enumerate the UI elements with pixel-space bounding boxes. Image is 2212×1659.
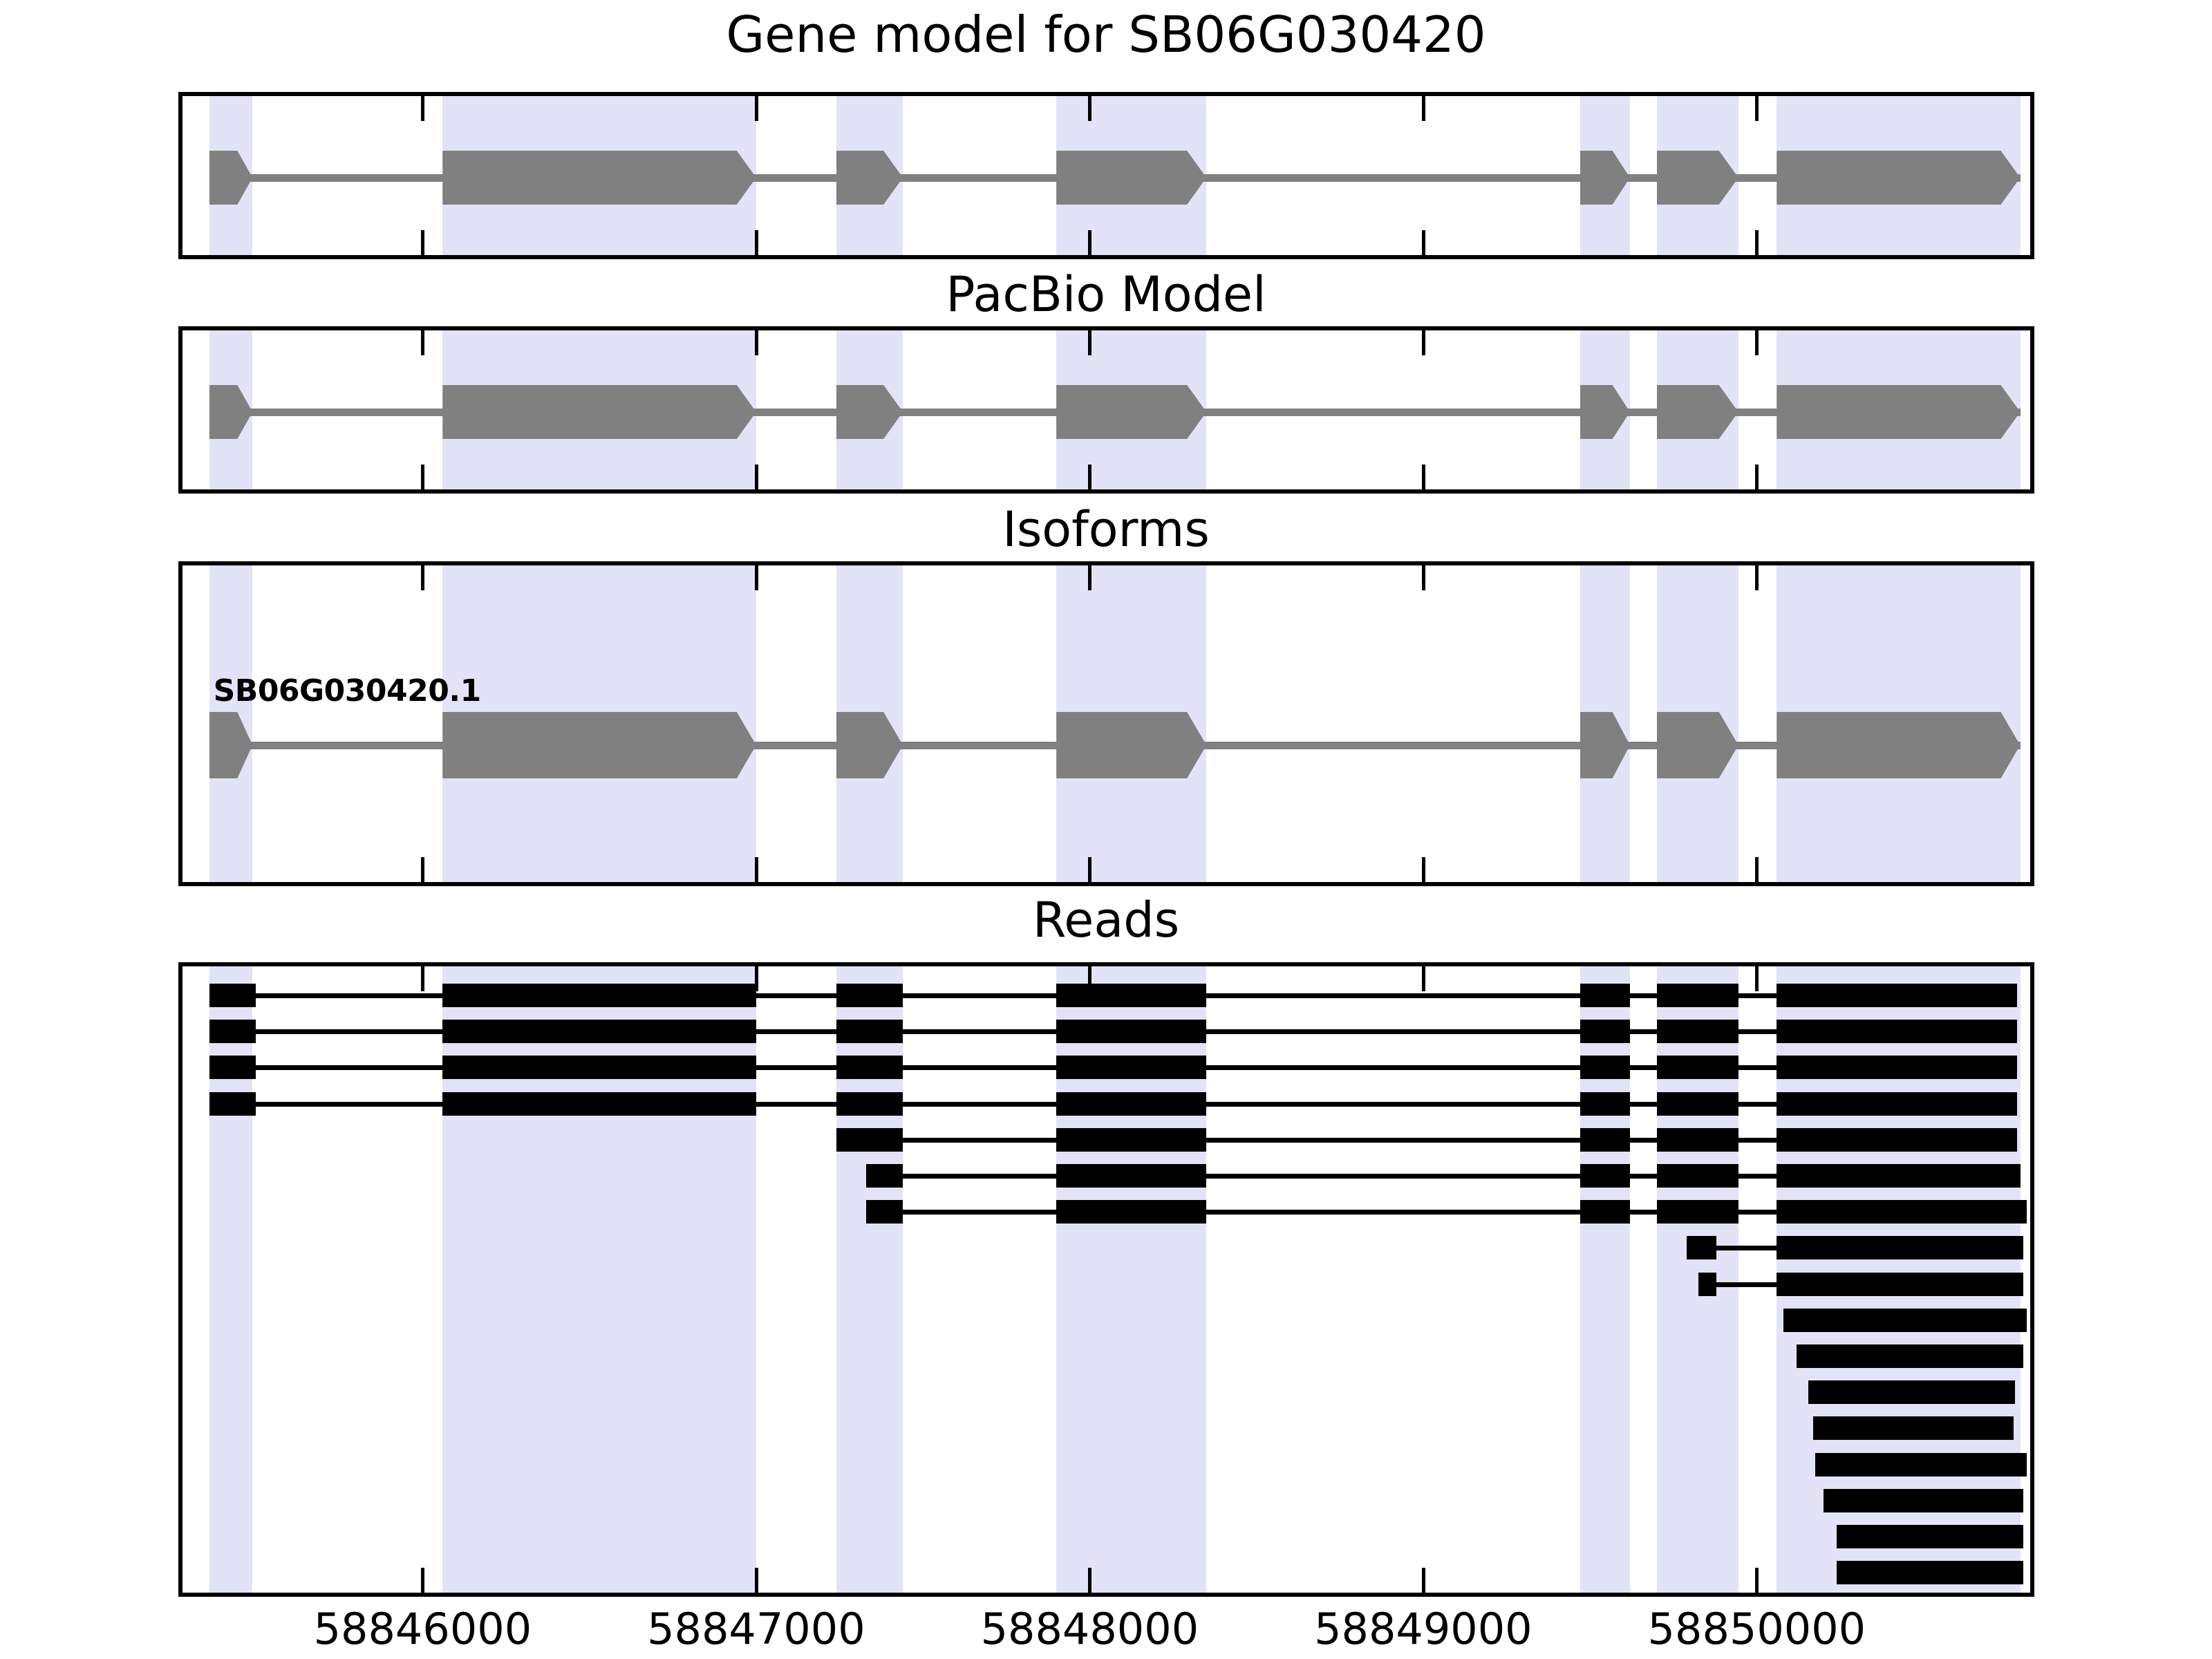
read-exon-block bbox=[1815, 1453, 2027, 1477]
exon-block bbox=[1056, 712, 1206, 778]
panel-title-reads: Reads bbox=[0, 892, 2212, 948]
x-tick-label: 58850000 bbox=[1584, 1604, 1929, 1654]
read-exon-block bbox=[1657, 1200, 1738, 1224]
exon-block bbox=[442, 151, 756, 205]
read-exon-block bbox=[1777, 1273, 2023, 1296]
x-tick bbox=[1755, 1568, 1759, 1593]
pacbio-model-axes bbox=[178, 326, 2034, 494]
x-tick bbox=[1088, 465, 1091, 489]
read-exon-block bbox=[1580, 1164, 1630, 1188]
exon-block bbox=[1777, 385, 2020, 439]
x-tick bbox=[1088, 330, 1091, 355]
read-exon-block bbox=[1657, 1056, 1738, 1079]
read-exon-block bbox=[1657, 1092, 1738, 1116]
x-tick bbox=[1422, 96, 1425, 121]
x-tick bbox=[755, 96, 758, 121]
x-tick bbox=[1422, 1568, 1425, 1593]
x-tick bbox=[421, 1568, 424, 1593]
x-tick bbox=[1422, 330, 1425, 355]
x-tick bbox=[1422, 565, 1425, 590]
read-exon-block bbox=[1056, 1200, 1206, 1224]
read-exon-block bbox=[1777, 984, 2016, 1007]
page-title: Gene model for SB06G030420 bbox=[0, 6, 2212, 64]
read-exon-block bbox=[1657, 1020, 1738, 1043]
x-tick bbox=[1755, 966, 1759, 991]
x-tick-label: 58847000 bbox=[583, 1604, 929, 1654]
read-exon-block bbox=[836, 984, 903, 1007]
exon-block bbox=[1777, 712, 2020, 778]
read-exon-block bbox=[1657, 984, 1738, 1007]
read-exon-block bbox=[209, 984, 256, 1007]
x-tick-label: 58849000 bbox=[1250, 1604, 1596, 1654]
read-exon-block bbox=[866, 1164, 903, 1188]
x-tick bbox=[1088, 1568, 1091, 1593]
x-tick bbox=[755, 230, 758, 255]
panel-title-isoforms: Isoforms bbox=[0, 501, 2212, 558]
exon-block bbox=[1777, 151, 2020, 205]
exon-block bbox=[442, 385, 756, 439]
read-exon-block bbox=[209, 1092, 256, 1116]
read-exon-block bbox=[1056, 984, 1206, 1007]
read-exon-block bbox=[836, 1092, 903, 1116]
x-tick bbox=[755, 565, 758, 590]
read-exon-block bbox=[442, 1056, 756, 1079]
x-tick bbox=[1088, 230, 1091, 255]
read-exon-block bbox=[1824, 1489, 2023, 1512]
x-tick bbox=[1088, 565, 1091, 590]
reads-axes bbox=[178, 962, 2034, 1597]
read-exon-block bbox=[836, 1056, 903, 1079]
exon-block bbox=[442, 712, 756, 778]
read-exon-block bbox=[442, 1020, 756, 1043]
read-exon-block bbox=[1056, 1056, 1206, 1079]
read-exon-block bbox=[1580, 984, 1630, 1007]
read-exon-block bbox=[1056, 1020, 1206, 1043]
read-exon-block bbox=[1777, 1128, 2016, 1152]
read-exon-block bbox=[866, 1200, 903, 1224]
read-exon-block bbox=[1777, 1164, 2020, 1188]
x-tick bbox=[421, 330, 424, 355]
read-exon-block bbox=[836, 1020, 903, 1043]
read-exon-block bbox=[1837, 1525, 2023, 1548]
read-exon-block bbox=[1777, 1092, 2016, 1116]
x-tick bbox=[755, 857, 758, 882]
x-tick bbox=[421, 465, 424, 489]
read-exon-block bbox=[1580, 1056, 1630, 1079]
x-tick bbox=[1755, 565, 1759, 590]
read-exon-block bbox=[1813, 1416, 2013, 1440]
x-tick bbox=[421, 96, 424, 121]
x-tick bbox=[1755, 857, 1759, 882]
read-exon-block bbox=[1808, 1380, 2015, 1404]
read-exon-block bbox=[1056, 1092, 1206, 1116]
x-tick bbox=[421, 966, 424, 991]
x-tick bbox=[755, 1568, 758, 1593]
read-exon-block bbox=[209, 1020, 256, 1043]
read-exon-block bbox=[1056, 1128, 1206, 1152]
x-tick-label: 58846000 bbox=[250, 1604, 595, 1654]
x-tick bbox=[1755, 330, 1759, 355]
x-tick bbox=[421, 857, 424, 882]
x-tick bbox=[755, 465, 758, 489]
gene-model-axes bbox=[178, 92, 2034, 259]
read-exon-block bbox=[1777, 1020, 2016, 1043]
x-tick bbox=[1422, 230, 1425, 255]
x-tick bbox=[1422, 857, 1425, 882]
x-tick bbox=[1422, 465, 1425, 489]
read-exon-block bbox=[1580, 1020, 1630, 1043]
read-exon-block bbox=[836, 1128, 903, 1152]
read-exon-block bbox=[1580, 1200, 1630, 1224]
exon-block bbox=[1056, 151, 1206, 205]
x-tick bbox=[421, 565, 424, 590]
read-exon-block bbox=[1837, 1561, 2023, 1584]
x-tick bbox=[1755, 230, 1759, 255]
read-exon-block bbox=[1657, 1164, 1738, 1188]
read-exon-block bbox=[1783, 1309, 2027, 1332]
x-tick bbox=[755, 330, 758, 355]
isoforms-axes: SB06G030420.1 bbox=[178, 561, 2034, 886]
read-exon-block bbox=[442, 1092, 756, 1116]
read-exon-block bbox=[1698, 1273, 1717, 1296]
read-exon-block bbox=[1056, 1164, 1206, 1188]
read-exon-block bbox=[1687, 1236, 1716, 1259]
x-tick bbox=[1088, 96, 1091, 121]
x-tick bbox=[421, 230, 424, 255]
read-exon-block bbox=[1580, 1128, 1630, 1152]
read-exon-block bbox=[1580, 1092, 1630, 1116]
read-exon-block bbox=[1657, 1128, 1738, 1152]
panel-title-pacbio: PacBio Model bbox=[0, 266, 2212, 323]
read-exon-block bbox=[442, 984, 756, 1007]
read-exon-block bbox=[1777, 1236, 2023, 1259]
isoform-label: SB06G030420.1 bbox=[214, 673, 481, 709]
x-tick-label: 58848000 bbox=[917, 1604, 1262, 1654]
read-exon-block bbox=[1797, 1344, 2023, 1368]
read-exon-block bbox=[1777, 1056, 2016, 1079]
x-tick bbox=[1755, 96, 1759, 121]
x-tick bbox=[1755, 465, 1759, 489]
read-exon-block bbox=[1777, 1200, 2027, 1224]
read-exon-block bbox=[209, 1056, 256, 1079]
x-tick bbox=[1088, 857, 1091, 882]
x-tick bbox=[1422, 966, 1425, 991]
exon-block bbox=[1056, 385, 1206, 439]
